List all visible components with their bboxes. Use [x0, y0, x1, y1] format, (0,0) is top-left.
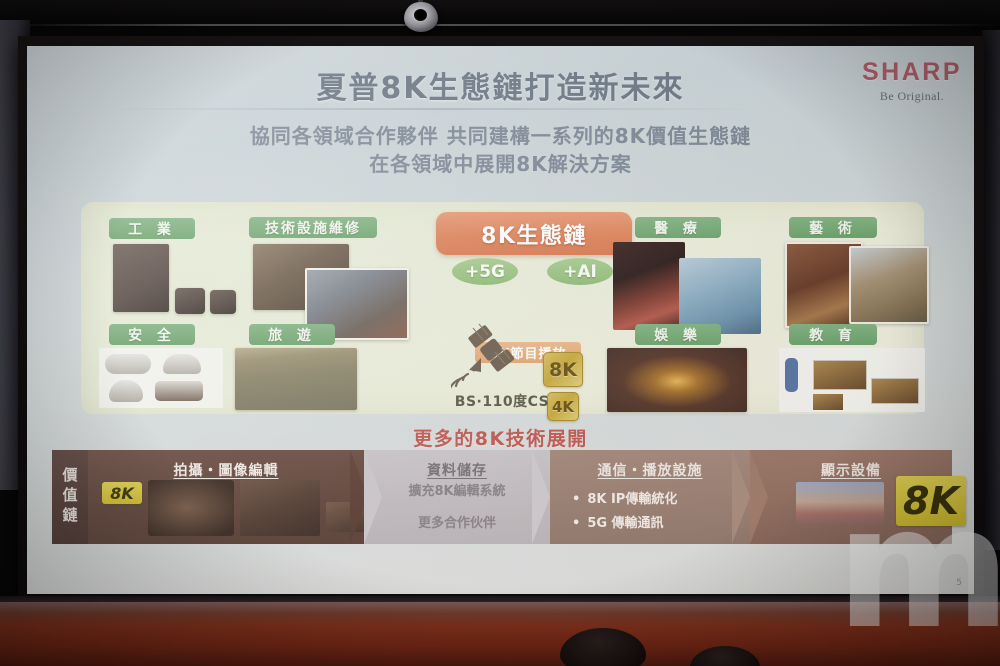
category-label-art: 藝 術 [789, 217, 877, 238]
thumb-surgery-monitor [613, 242, 685, 330]
chain-segment-transmission-title: 通信・播放設施 [550, 460, 750, 480]
thumb-teleoffice-classroom [779, 348, 925, 412]
chain-bullet-ip: 8K IP傳輸統化 [572, 488, 677, 512]
chain-segment-storage: 資料儲存 擴充8K編輯系統 更多合作伙伴 [364, 450, 550, 544]
photo-of-presentation-screen: SHARP Be Original. 夏普8K生態鏈打造新未來 協同各領域合作夥… [0, 0, 1000, 666]
category-label-entertainment: 娛 樂 [635, 324, 721, 345]
thumb-industrial-sensor-b [210, 290, 236, 314]
chain-segment-capture: 拍攝・圖像編輯 8K [88, 450, 364, 544]
chain-badge-8k-display: 8K [896, 476, 966, 526]
value-chain-axis-text: 價值鏈 [60, 467, 81, 527]
value-chain-axis-label: 價值鏈 [52, 450, 88, 544]
thumb-8k-camera [148, 480, 234, 536]
category-label-tourism: 旅 遊 [249, 324, 335, 345]
slide-title: 夏普8K生態鏈打造新未來 [27, 63, 974, 107]
value-chain-bar: 價值鏈 拍攝・圖像編輯 8K 資料儲存 擴充8K編輯系統 更多合作伙伴 [52, 450, 952, 544]
thumb-security-cameras [99, 348, 223, 408]
chain-bullet-5g: 5G 傳輸通訊 [572, 512, 677, 536]
satellite-caption: BS·110度CS [427, 391, 577, 411]
thumb-industrial-cabinet [113, 244, 169, 312]
subtitle-line-1: 協同各領域合作夥伴 共同建構一系列的8K價值生態鏈 [27, 122, 974, 150]
wood-wall-panel [0, 602, 1000, 666]
title-divider [101, 108, 761, 110]
category-label-medical: 醫 療 [635, 217, 721, 238]
chain-segment-transmission: 通信・播放設施 8K IP傳輸統化 5G 傳輸通訊 [550, 450, 750, 544]
thumb-operating-room [679, 258, 761, 334]
projection-screen: SHARP Be Original. 夏普8K生態鏈打造新未來 協同各領域合作夥… [27, 46, 974, 594]
badge-8k-satellite: 8K [543, 352, 583, 387]
thumb-concert-stage [607, 348, 747, 412]
chain-segment-storage-sub-2: 更多合作伙伴 [364, 512, 550, 531]
category-label-facility-maintenance: 技術設施維修 [249, 217, 377, 238]
core-ecosystem-box: 8K生態鏈 [436, 212, 632, 255]
thumb-industrial-sensor-a [175, 288, 205, 314]
right-wall [982, 30, 1000, 550]
chain-badge-8k-capture: 8K [102, 482, 142, 504]
thumb-8k-television [796, 482, 884, 526]
category-label-security: 安 全 [109, 324, 195, 345]
chain-segment-transmission-bullets: 8K IP傳輸統化 5G 傳輸通訊 [572, 488, 677, 536]
category-label-industry: 工 業 [109, 218, 195, 239]
ceiling-rail [0, 24, 1000, 26]
spotlight-lens-icon [414, 9, 427, 21]
value-chain-heading: 更多的8K技術展開 [27, 424, 974, 451]
slide-subtitle: 協同各領域合作夥伴 共同建構一系列的8K價值生態鏈 在各領域中展開8K解決方案 [27, 122, 974, 179]
thumb-crowd-temple [235, 348, 357, 410]
thumb-editing-console [240, 480, 320, 536]
category-label-education: 教 育 [789, 324, 877, 345]
presentation-slide: SHARP Be Original. 夏普8K生態鏈打造新未來 協同各領域合作夥… [27, 46, 974, 594]
thumb-artwork-tv [849, 246, 929, 324]
addon-5g-pill: +5G [452, 258, 518, 285]
subtitle-line-2: 在各領域中展開8K解決方案 [27, 150, 974, 178]
chain-segment-storage-sub-1: 擴充8K編輯系統 [364, 480, 550, 499]
satellite-icon [451, 322, 531, 394]
chain-segment-capture-title: 拍攝・圖像編輯 [88, 460, 364, 480]
addon-ai-pill: +AI [547, 258, 613, 285]
chain-segment-storage-title: 資料儲存 [364, 460, 550, 480]
page-number: 5 [956, 578, 962, 588]
chain-segment-display: 顯示設備 8K [750, 450, 952, 544]
